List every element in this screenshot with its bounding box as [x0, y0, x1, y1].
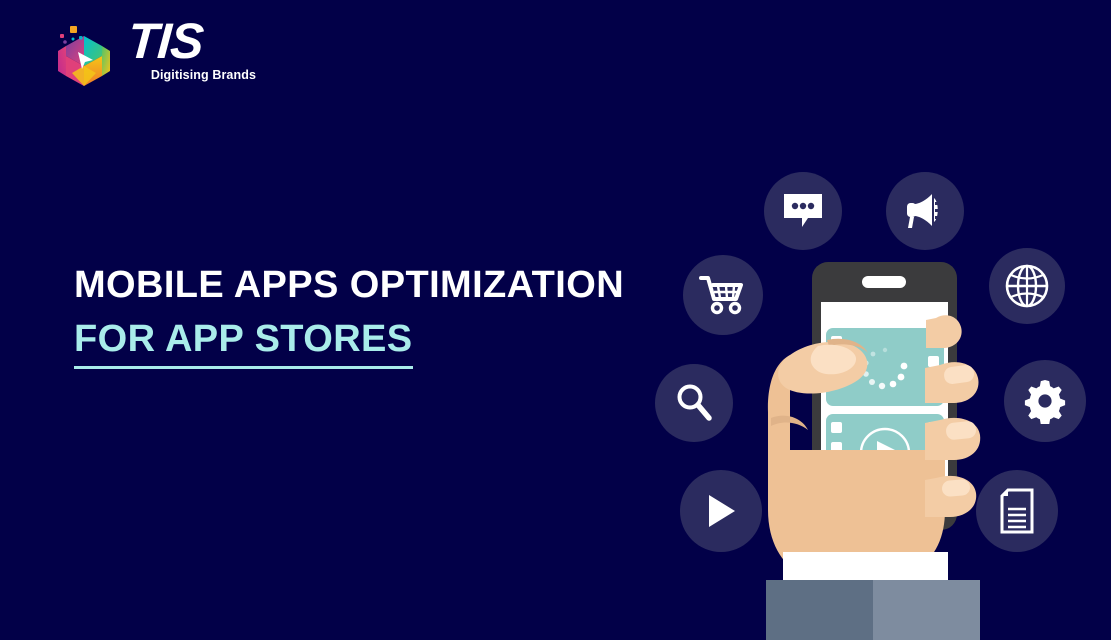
page-title: MOBILE APPS OPTIMIZATION FOR APP STORES	[74, 262, 674, 369]
brand-logo[interactable]: TIS Digitising Brands	[48, 14, 258, 92]
banner-canvas: TIS Digitising Brands MOBILE APPS OPTIMI…	[0, 0, 1111, 640]
brand-name: TIS	[126, 16, 259, 66]
hexagon-cursor-logo-icon	[48, 20, 120, 92]
headline-underline	[74, 366, 413, 369]
headline-line-2: FOR APP STORES	[74, 316, 413, 362]
brand-tagline: Digitising Brands	[128, 68, 256, 82]
phone-in-hand-illustration	[640, 150, 1111, 640]
headline-line-1: MOBILE APPS OPTIMIZATION	[74, 262, 674, 308]
brand-wordmark: TIS Digitising Brands	[128, 16, 258, 88]
headline-line-2-wrapper: FOR APP STORES	[74, 316, 413, 369]
